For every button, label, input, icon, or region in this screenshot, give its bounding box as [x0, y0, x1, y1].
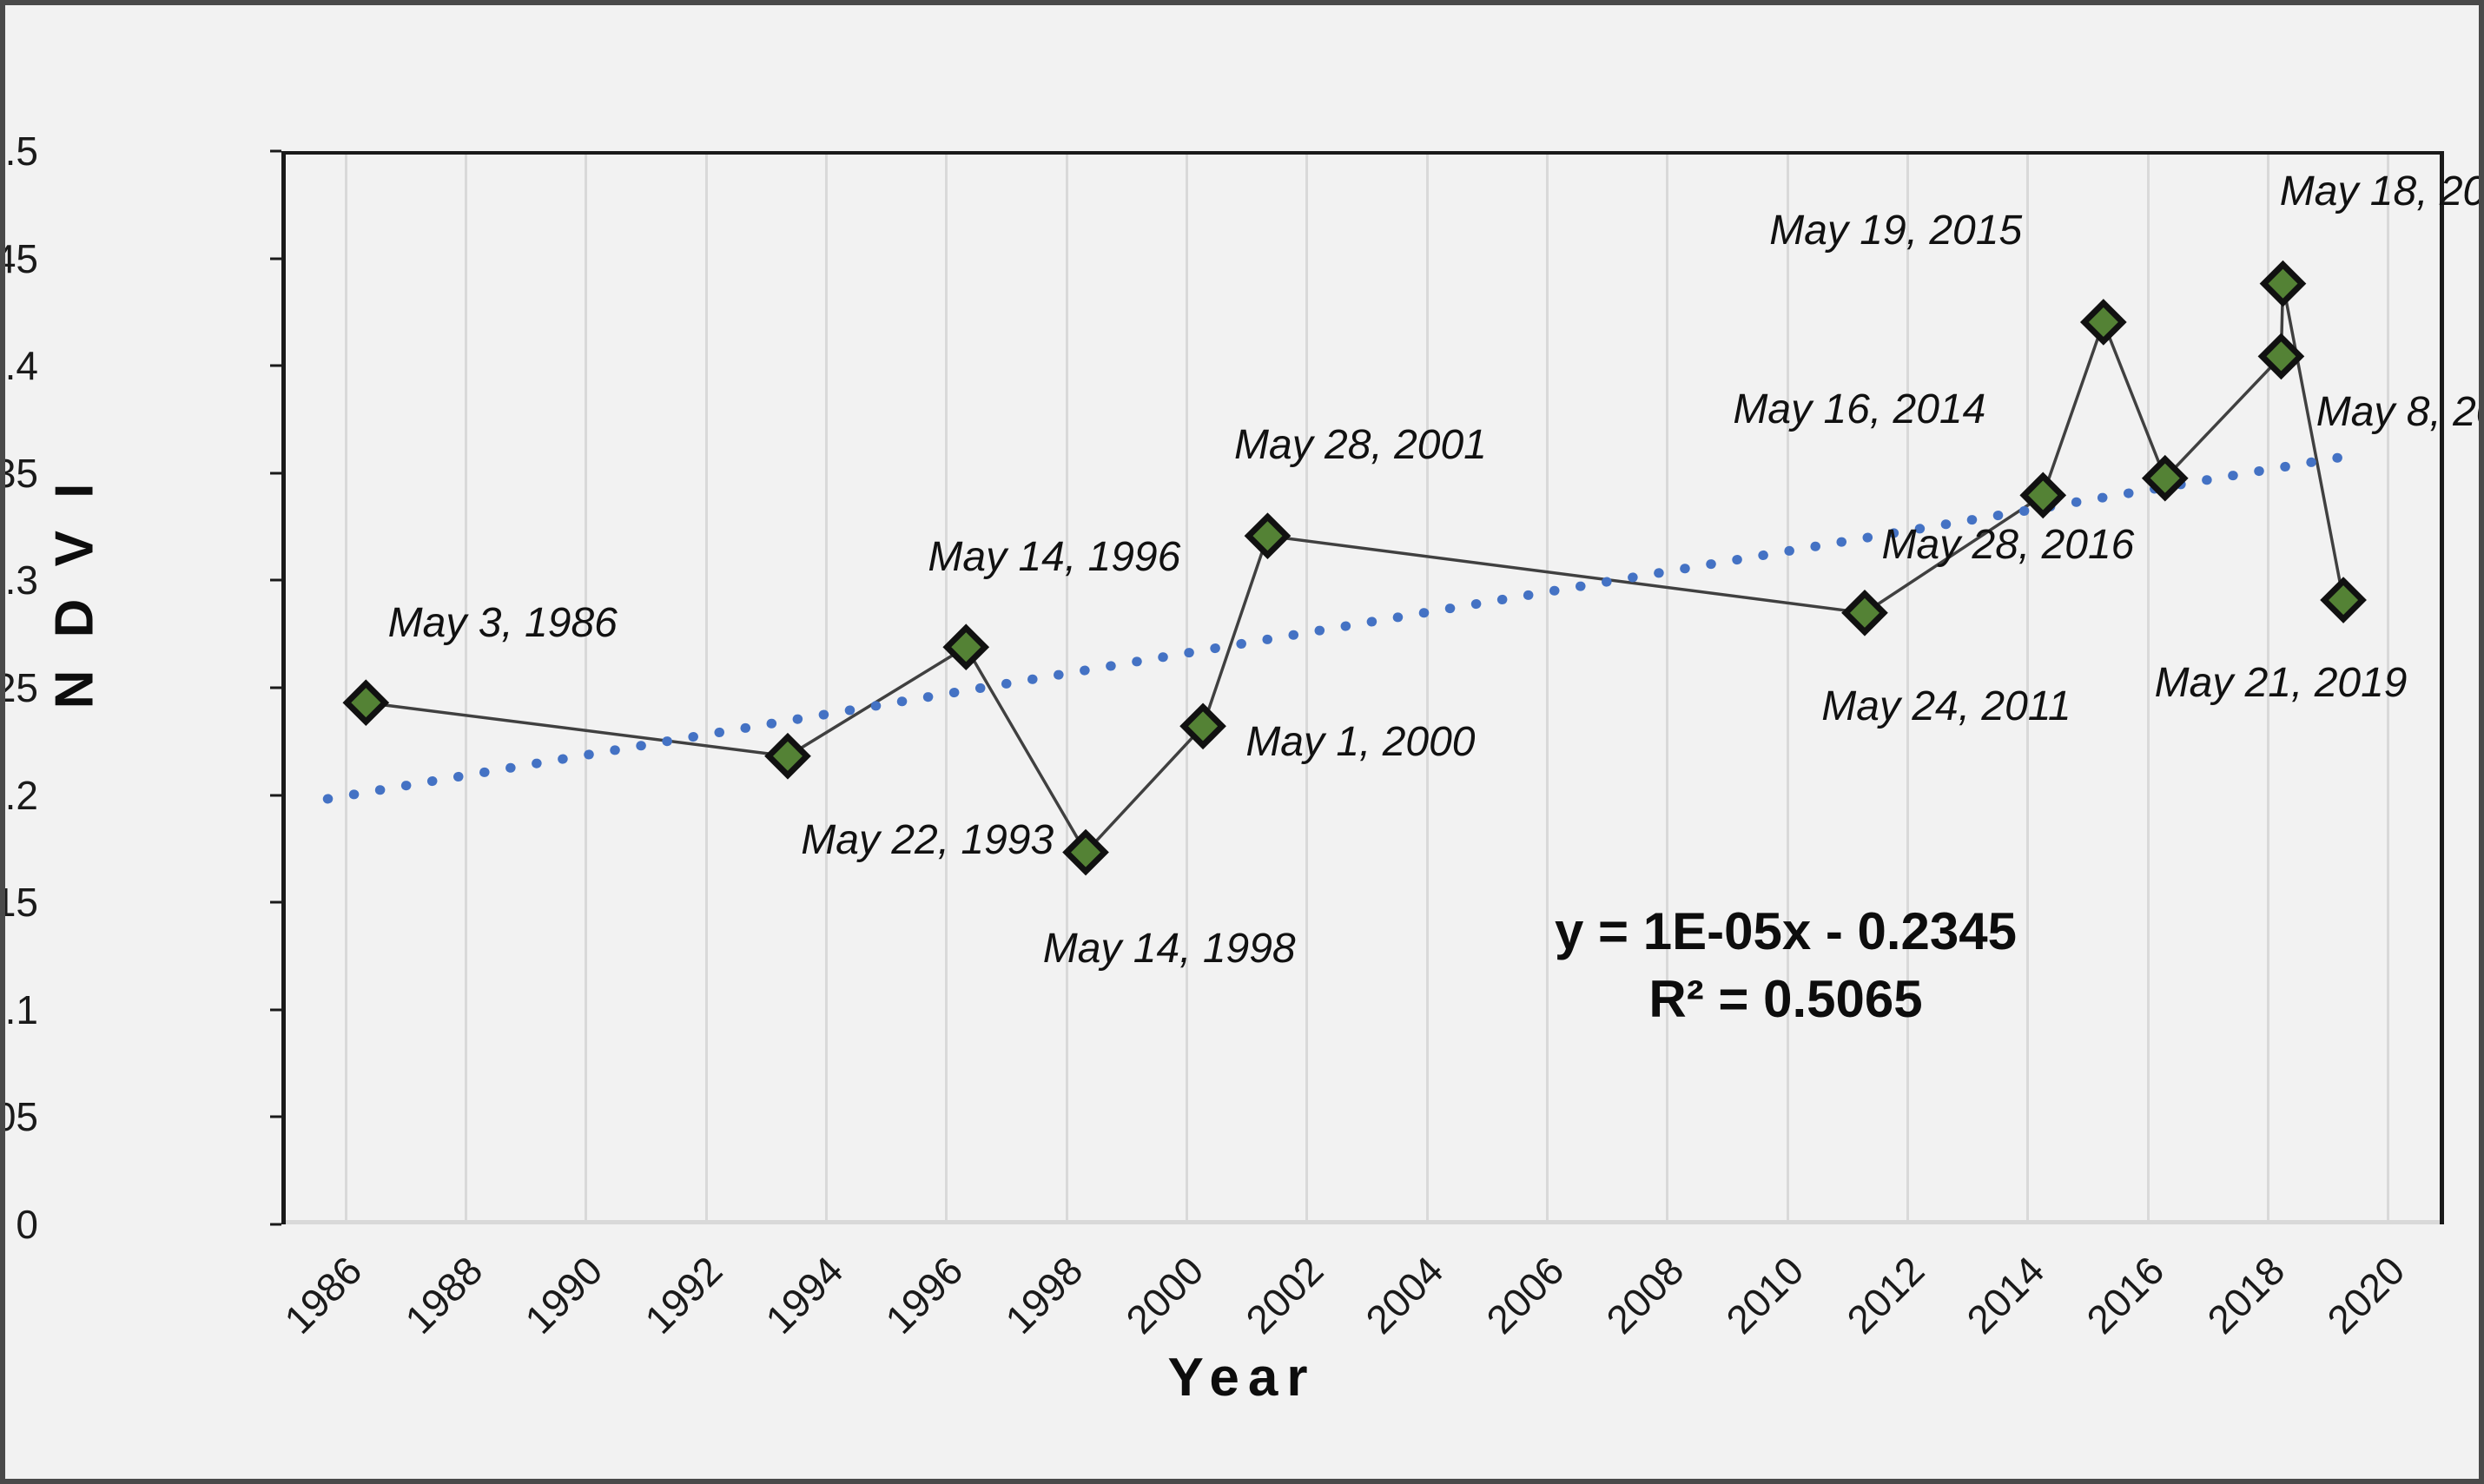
y-axis-title: N D V I [44, 262, 106, 922]
chart-figure: N D V I 00.050.10.150.20.250.30.350.40.4… [0, 0, 2484, 1484]
data-point-label: May 21, 2019 [2155, 659, 2408, 707]
data-point-label: May 14, 1996 [928, 533, 1180, 581]
data-point-marker [347, 683, 385, 722]
y-tick-label: 0.35 [0, 450, 38, 497]
y-tick-mark [270, 1116, 281, 1118]
data-point-label: May 1, 2000 [1245, 718, 1475, 766]
data-point-label: May 3, 1986 [388, 599, 618, 647]
x-tick-label: 1998 [996, 1247, 1093, 1343]
y-tick-label: 0.3 [0, 557, 38, 603]
y-tick-mark [270, 794, 281, 796]
x-tick-label: 1988 [395, 1247, 492, 1343]
y-tick-label: 0.4 [0, 342, 38, 389]
x-tick-label: 1996 [875, 1247, 972, 1343]
y-tick-mark [270, 1223, 281, 1226]
data-point-marker [947, 628, 985, 666]
y-tick-label: 0.1 [0, 986, 38, 1033]
x-tick-label: 2010 [1717, 1247, 1813, 1343]
plot-area [281, 151, 2444, 1224]
x-tick-label: 2012 [1837, 1247, 1933, 1343]
data-point-marker [1249, 517, 1287, 555]
x-tick-label: 1994 [756, 1247, 852, 1343]
data-point-marker [2264, 265, 2302, 303]
y-tick-label: 0 [0, 1201, 38, 1248]
y-tick-label: 0.15 [0, 879, 38, 926]
y-tick-label: 0.45 [0, 235, 38, 282]
data-point-marker [2084, 303, 2123, 341]
y-tick-mark [270, 579, 281, 582]
x-tick-label: 2004 [1357, 1247, 1453, 1343]
x-tick-label: 1990 [515, 1247, 611, 1343]
x-tick-label: 2008 [1596, 1247, 1693, 1343]
y-tick-mark [270, 1008, 281, 1011]
x-tick-label: 2014 [1957, 1247, 2053, 1343]
y-tick-mark [270, 901, 281, 904]
plot-area-wrapper [281, 151, 2444, 1224]
x-tick-label: 2002 [1236, 1247, 1332, 1343]
y-tick-label: 0.5 [0, 128, 38, 175]
x-tick-label: 2016 [2078, 1247, 2174, 1343]
x-tick-label: 2006 [1477, 1247, 1573, 1343]
x-axis-baseline [286, 1220, 2440, 1224]
data-series-svg [286, 151, 2440, 1220]
data-point-label: May 19, 2015 [1769, 207, 2022, 254]
x-tick-label: 1992 [636, 1247, 732, 1343]
x-tick-label: 2018 [2197, 1247, 2294, 1343]
data-point-label: May 14, 1998 [1043, 925, 1296, 973]
data-point-label: May 18, 2018 [2280, 168, 2484, 215]
x-tick-label: 2020 [2317, 1247, 2414, 1343]
data-point-label: May 28, 2016 [1882, 521, 2135, 569]
y-tick-mark [270, 150, 281, 153]
y-tick-mark [270, 687, 281, 689]
trendline-equation: y = 1E-05x - 0.2345 [1482, 898, 2090, 966]
data-point-label: May 8, 2017 [2316, 388, 2484, 436]
y-tick-mark [270, 472, 281, 474]
data-point-label: May 16, 2014 [1733, 386, 1985, 433]
y-tick-label: 0.25 [0, 664, 38, 711]
y-tick-mark [270, 257, 281, 260]
x-axis-title: Year [5, 1347, 2479, 1408]
data-point-label: May 22, 1993 [801, 816, 1054, 864]
trendline-r-squared: R² = 0.5065 [1482, 966, 2090, 1033]
data-point-marker [769, 737, 807, 775]
trendline-equation-annotation: y = 1E-05x - 0.2345 R² = 0.5065 [1482, 898, 2090, 1033]
y-tick-mark [270, 365, 281, 367]
x-tick-label: 2000 [1116, 1247, 1212, 1343]
data-point-marker [1846, 594, 1884, 632]
y-tick-label: 0.05 [0, 1093, 38, 1140]
y-tick-label: 0.2 [0, 772, 38, 819]
x-tick-label: 1986 [275, 1247, 372, 1343]
data-point-label: May 24, 2011 [1821, 683, 2071, 730]
data-point-marker [2024, 476, 2062, 514]
data-point-label: May 28, 2001 [1234, 421, 1487, 469]
data-point-marker [2324, 581, 2362, 619]
